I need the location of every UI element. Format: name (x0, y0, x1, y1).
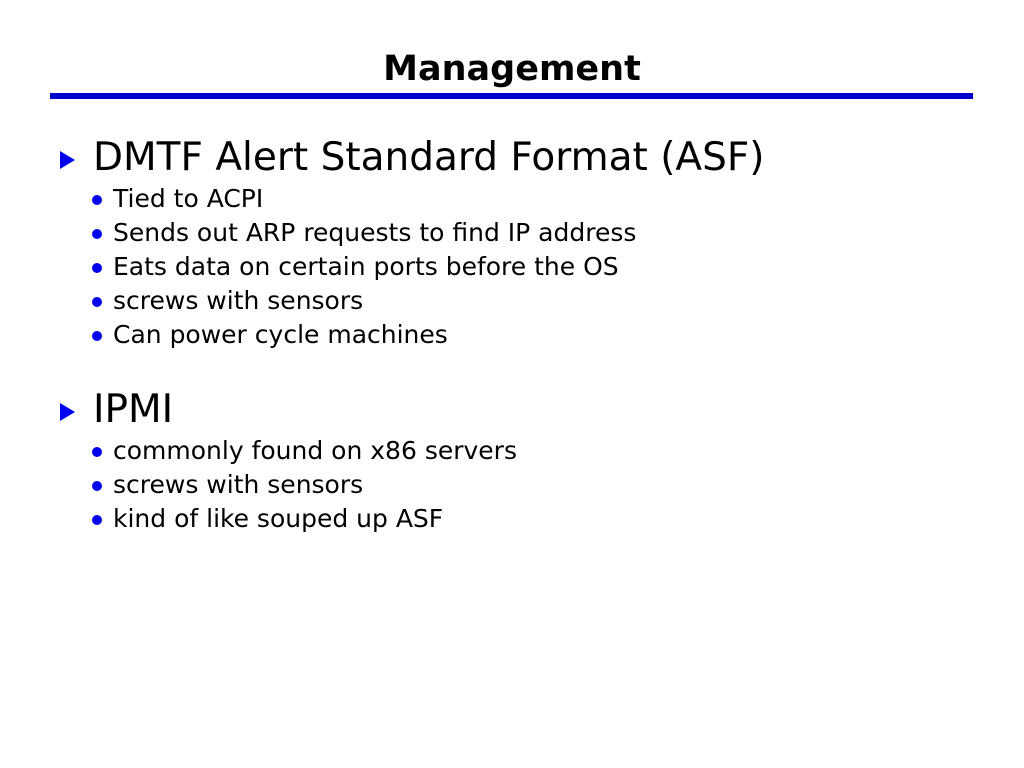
bullet-level2: Tied to ACPI (0, 182, 1024, 216)
bullet-level2-label: screws with sensors (113, 286, 363, 315)
slide-body: DMTF Alert Standard Format (ASF) Tied to… (0, 134, 1024, 536)
dot-icon (92, 195, 102, 205)
bullet-level1: IPMI (0, 386, 1024, 434)
bullet-level2-label: screws with sensors (113, 470, 363, 499)
dot-icon (92, 515, 102, 525)
bullet-level2: Sends out ARP requests to find IP addres… (0, 216, 1024, 250)
presentation-slide: Management DMTF Alert Standard Format (A… (0, 0, 1024, 768)
bullet-level1-label: IPMI (93, 387, 173, 432)
dot-icon (92, 297, 102, 307)
slide-title: Management (50, 48, 974, 90)
dot-icon (92, 447, 102, 457)
bullet-level2-label: Tied to ACPI (113, 184, 263, 213)
bullet-level2: screws with sensors (0, 468, 1024, 502)
bullet-level2-label: Eats data on certain ports before the OS (113, 252, 619, 281)
bullet-level2-label: Sends out ARP requests to find IP addres… (113, 218, 636, 247)
bullet-level1-label: DMTF Alert Standard Format (ASF) (93, 135, 765, 180)
triangle-right-icon (60, 151, 75, 169)
dot-icon (92, 331, 102, 341)
bullet-level2: commonly found on x86 servers (0, 434, 1024, 468)
triangle-right-icon (60, 403, 75, 421)
bullet-group: IPMI commonly found on x86 servers screw… (0, 386, 1024, 536)
bullet-level2-label: Can power cycle machines (113, 320, 448, 349)
dot-icon (92, 263, 102, 273)
bullet-level2-label: kind of like souped up ASF (113, 504, 443, 533)
bullet-level2-label: commonly found on x86 servers (113, 436, 517, 465)
title-underline-rule (50, 93, 973, 99)
bullet-sublist: commonly found on x86 servers screws wit… (0, 434, 1024, 536)
bullet-group: DMTF Alert Standard Format (ASF) Tied to… (0, 134, 1024, 352)
dot-icon (92, 481, 102, 491)
bullet-level2: kind of like souped up ASF (0, 502, 1024, 536)
bullet-level2: screws with sensors (0, 284, 1024, 318)
bullet-sublist: Tied to ACPI Sends out ARP requests to f… (0, 182, 1024, 352)
bullet-level2: Can power cycle machines (0, 318, 1024, 352)
bullet-level2: Eats data on certain ports before the OS (0, 250, 1024, 284)
bullet-level1: DMTF Alert Standard Format (ASF) (0, 134, 1024, 182)
dot-icon (92, 229, 102, 239)
